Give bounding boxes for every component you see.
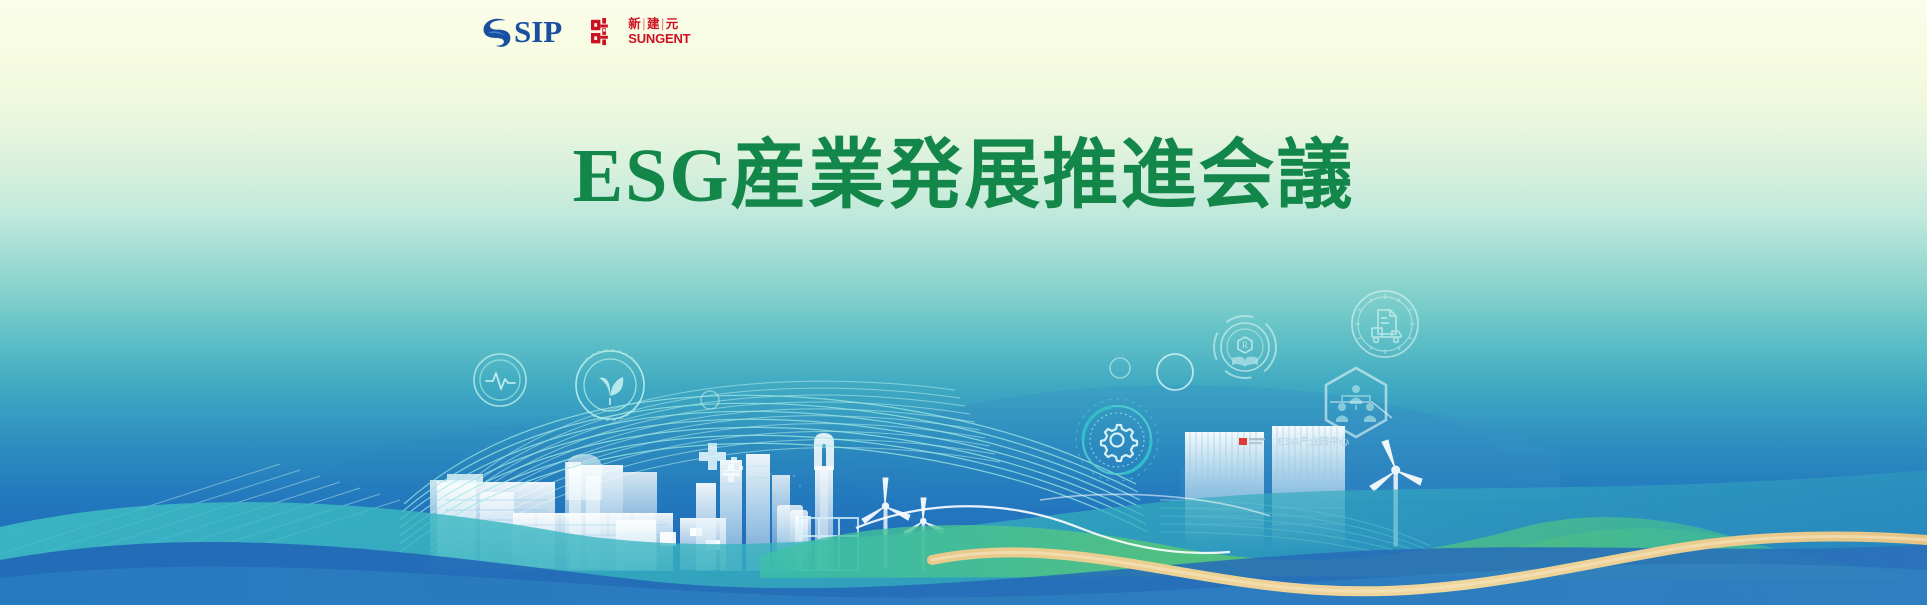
sungent-wordmark: 新|建|元 SUNGENT	[628, 18, 690, 46]
small-ring-3	[701, 391, 719, 409]
sip-logo-text: SIP	[514, 16, 562, 47]
building-sign-text: ESG产业园中心	[1278, 435, 1349, 448]
sip-swoosh-mark	[478, 13, 515, 50]
esg-conference-banner: ESG产业园中心	[0, 0, 1927, 605]
sungent-english-name: SUNGENT	[628, 32, 690, 45]
page-title: ESG産業発展推進会議	[0, 134, 1927, 219]
small-ring-2	[1157, 354, 1193, 390]
logo-row: SIP 新|建|元 SUNGENT	[478, 13, 690, 50]
sungent-chinese-name: 新|建|元	[628, 18, 690, 31]
svg-text:R: R	[1242, 340, 1248, 350]
book-r-icon: R	[1214, 316, 1276, 378]
sip-logo: SIP	[478, 13, 562, 50]
sungent-logo: 新|建|元 SUNGENT	[590, 17, 690, 47]
pulse-icon	[474, 354, 526, 406]
sungent-seal-mark	[590, 17, 622, 47]
small-ring-1	[1110, 358, 1130, 378]
background-illustration: ESG产业园中心	[0, 0, 1927, 605]
document-truck-icon	[1352, 291, 1418, 357]
